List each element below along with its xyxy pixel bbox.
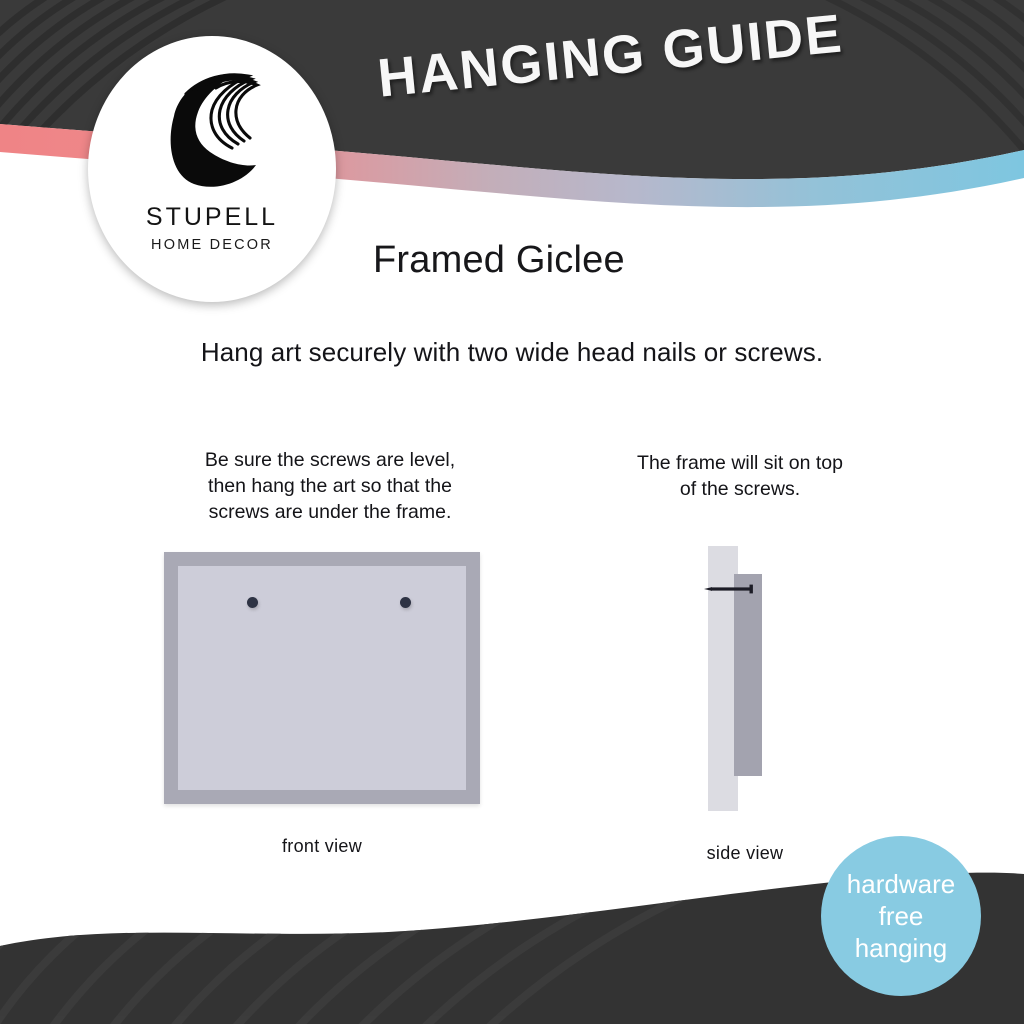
side-view-frame-strip [734, 574, 762, 776]
screw-dot-left-icon [247, 597, 258, 608]
front-view-diagram [164, 552, 480, 804]
front-view-art-panel [178, 566, 466, 790]
front-view-caption-line-3: screws are under the frame. [150, 499, 510, 525]
stupell-s-swoosh-icon [152, 66, 272, 201]
side-view-caption: The frame will sit on top of the screws. [590, 450, 890, 502]
logo-wordmark: STUPELL [146, 203, 278, 232]
badge-line-1: hardware [847, 868, 955, 900]
front-view-caption-line-2: then hang the art so that the [150, 473, 510, 499]
screw-dot-right-icon [400, 597, 411, 608]
lead-instruction-text: Hang art securely with two wide head nai… [0, 337, 1024, 368]
front-view-caption: Be sure the screws are level, then hang … [150, 447, 510, 525]
hanging-guide-page: STUPELL HOME DECOR HANGING GUIDE Framed … [0, 0, 1024, 1024]
product-type-subtitle: Framed Giclee [373, 239, 625, 282]
logo-tagline: HOME DECOR [151, 237, 273, 253]
hardware-free-hanging-badge: hardware free hanging [821, 836, 981, 996]
side-view-caption-line-1: The frame will sit on top [590, 450, 890, 476]
front-view-caption-line-1: Be sure the screws are level, [150, 447, 510, 473]
badge-line-2: free [879, 900, 924, 932]
badge-line-3: hanging [855, 932, 948, 964]
side-view-diagram [690, 546, 800, 811]
nail-icon [704, 584, 760, 594]
brand-logo-badge: STUPELL HOME DECOR [88, 36, 336, 302]
side-view-caption-line-2: of the screws. [590, 476, 890, 502]
